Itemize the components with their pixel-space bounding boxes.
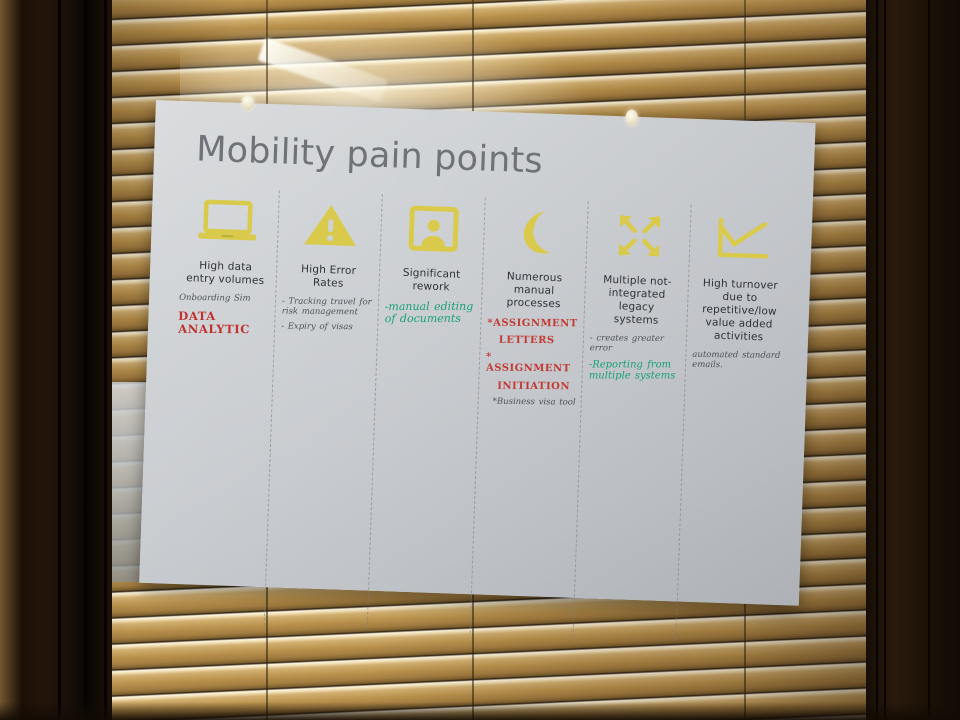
column-high-turnover: High turnoverdue torepetitive/lowvalue a… [679, 211, 795, 584]
note: automated standard emails. [692, 351, 783, 371]
column-caption: Multiple not-integratedlegacysystems [588, 273, 685, 328]
handwritten-notes: *ASSIGNMENT LETTERS * ASSIGNMENT INITIAT… [482, 318, 580, 411]
column-caption: Significantrework [383, 266, 479, 295]
window-frame-bottom [0, 702, 960, 720]
page-title: Mobility pain points [196, 129, 544, 181]
note: - creates greater error [590, 334, 681, 354]
warning-triangle-icon [282, 197, 379, 254]
column-legacy-systems: Multiple not-integratedlegacysystems - c… [576, 207, 692, 580]
note: *Business visa tool [485, 398, 576, 408]
line-chart-icon [694, 211, 791, 268]
handwritten-notes: - creates greater error -Reporting from … [586, 334, 683, 385]
handwritten-notes: - Tracking travel for risk management - … [279, 297, 375, 335]
pain-point-columns: High dataentry volumes Onboarding Sim DA… [164, 193, 795, 584]
handwritten-notes: automated standard emails. [690, 351, 786, 373]
laptop-icon [179, 193, 276, 250]
expand-arrows-icon [591, 207, 688, 264]
window-frame-left-highlight [0, 0, 22, 720]
column-caption: High turnoverdue torepetitive/lowvalue a… [691, 277, 788, 345]
column-high-error-rates: High ErrorRates - Tracking travel for ri… [267, 196, 383, 569]
note: -Reporting from multiple systems [589, 359, 680, 381]
tape-mark [242, 94, 255, 110]
note: INITIATION [485, 380, 576, 392]
note: *ASSIGNMENT [487, 318, 578, 330]
column-high-data-entry-volumes: High dataentry volumes Onboarding Sim DA… [164, 193, 280, 566]
note: -manual editing of documents [385, 301, 476, 326]
column-caption: High ErrorRates [280, 262, 376, 291]
note: * ASSIGNMENT [486, 352, 577, 375]
tape-mark [625, 109, 638, 125]
note: LETTERS [487, 335, 578, 347]
column-caption: High dataentry volumes [178, 259, 274, 288]
handwritten-notes: -manual editing of documents [382, 301, 478, 329]
note: Onboarding Sim [179, 294, 270, 304]
photo-scene: Mobility pain points High dataentry volu… [0, 0, 960, 720]
crescent-moon-icon [488, 204, 585, 261]
column-caption: Numerousmanualprocesses [486, 270, 582, 312]
note: - Expiry of visas [281, 323, 372, 333]
column-significant-rework: Significantrework -manual editing of doc… [370, 200, 486, 573]
person-portrait-icon [385, 200, 482, 257]
window-frame-right [866, 0, 960, 720]
note: - Tracking travel for risk management [282, 298, 373, 318]
column-numerous-manual-processes: Numerousmanualprocesses *ASSIGNMENT LETT… [473, 204, 589, 577]
note: DATA ANALYTIC [178, 309, 269, 335]
handwritten-notes: Onboarding Sim DATA ANALYTIC [176, 294, 272, 339]
flipchart-poster: Mobility pain points High dataentry volu… [139, 100, 815, 606]
